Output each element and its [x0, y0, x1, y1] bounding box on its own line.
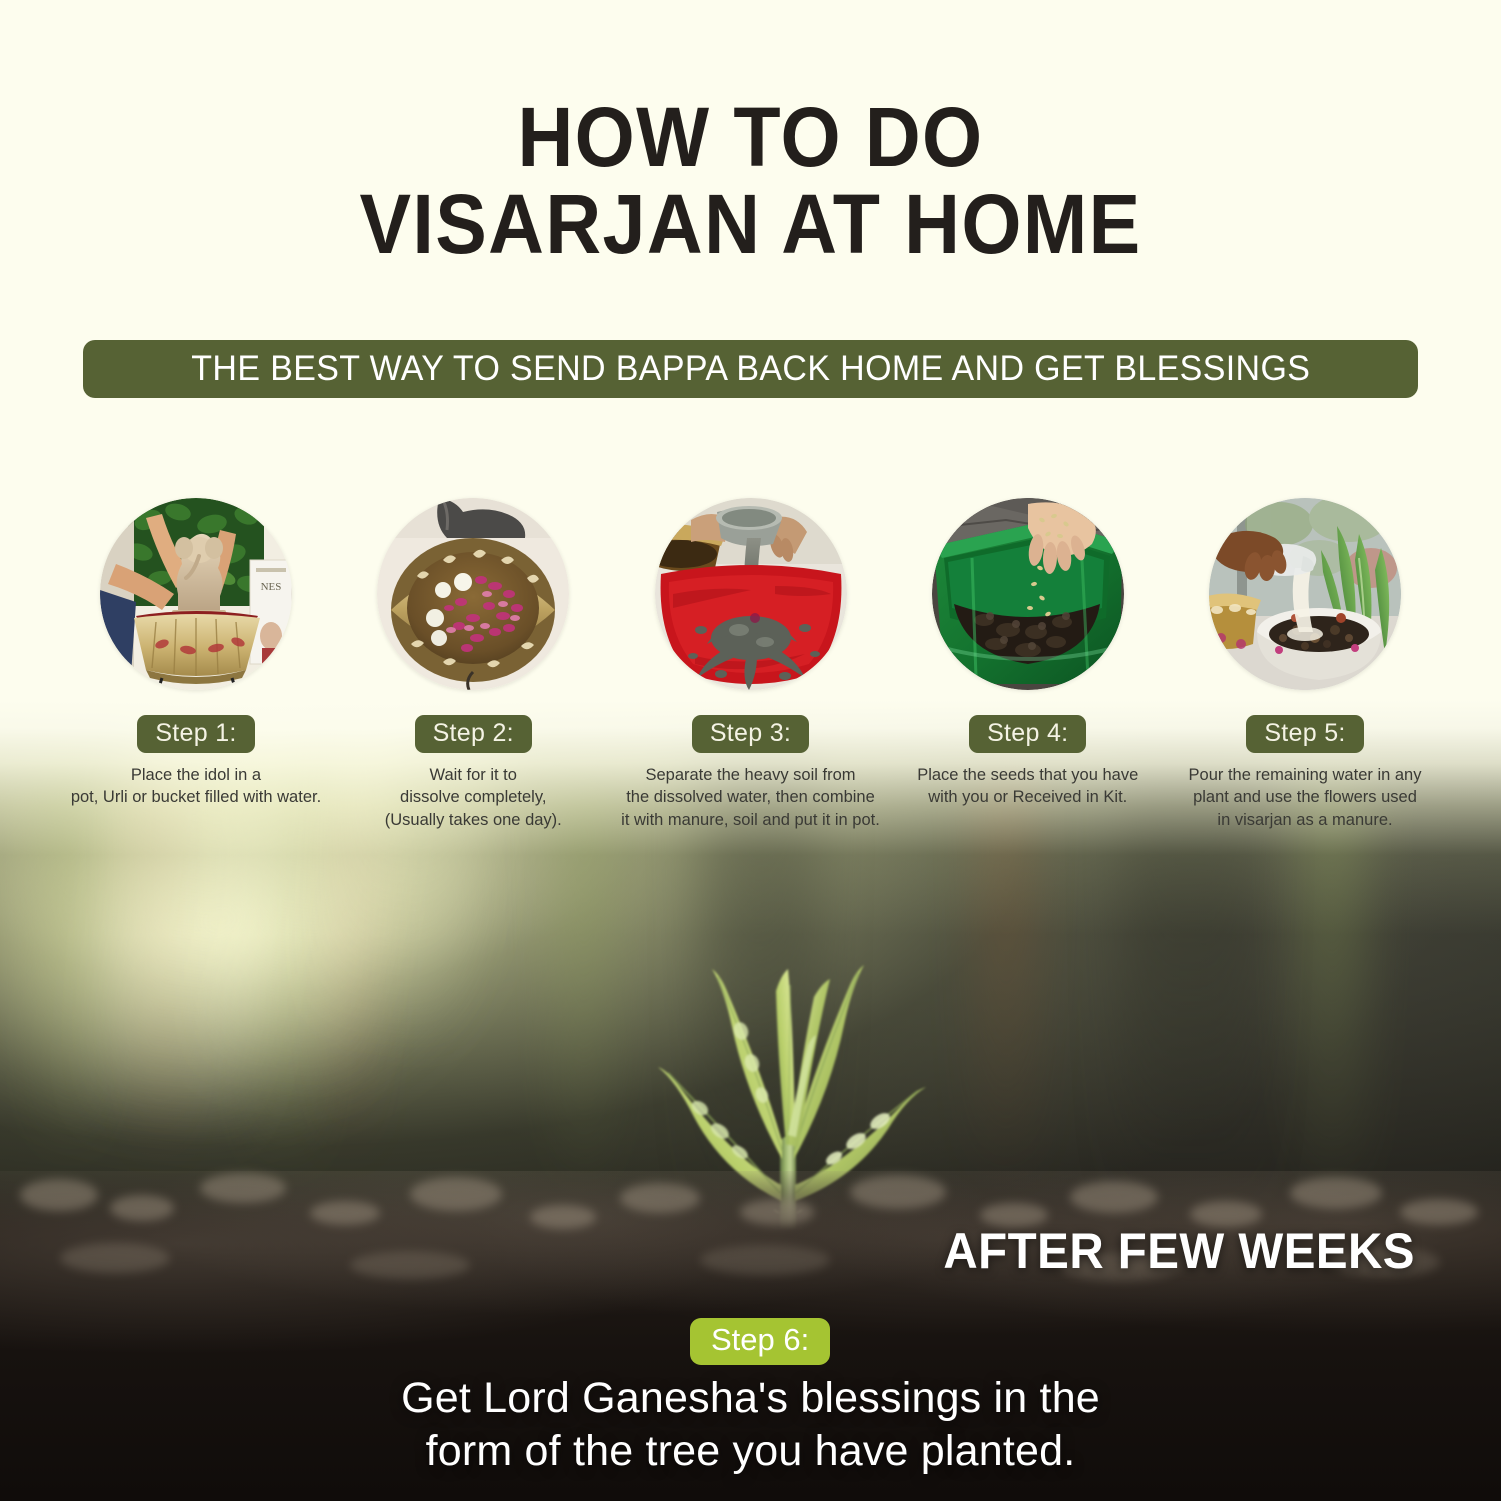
svg-text:NES: NES: [261, 581, 282, 593]
page-title: HOW TO DO VISARJAN AT HOME: [60, 96, 1441, 266]
step-description: Place the idol in a pot, Urli or bucket …: [71, 764, 321, 809]
step-card-3: Step 3: Separate the heavy soil from the…: [615, 498, 887, 831]
idol-dissolving-in-urli-photo: [377, 498, 569, 690]
subtitle-ribbon: THE BEST WAY TO SEND BAPPA BACK HOME AND…: [83, 340, 1418, 398]
infographic-poster: HOW TO DO VISARJAN AT HOME THE BEST WAY …: [0, 0, 1501, 1501]
title-line-1: HOW TO DO: [517, 90, 983, 184]
step-description: Wait for it to dissolve completely, (Usu…: [385, 764, 562, 831]
step-badge: Step 2:: [415, 715, 532, 753]
header: HOW TO DO VISARJAN AT HOME: [0, 96, 1501, 266]
step-6-description: Get Lord Ganesha's blessings in the form…: [0, 1372, 1501, 1479]
subtitle-text: THE BEST WAY TO SEND BAPPA BACK HOME AND…: [191, 349, 1310, 389]
step-card-1: NES: [60, 498, 332, 809]
step-badge: Step 5:: [1246, 715, 1363, 753]
steps-row: NES: [60, 498, 1441, 831]
watering-potted-plant-photo: [1209, 498, 1401, 690]
step-badge: Step 1:: [137, 715, 254, 753]
pouring-clay-slurry-on-red-cloth-photo: [655, 498, 847, 690]
step-description: Separate the heavy soil from the dissolv…: [621, 764, 880, 831]
step-card-5: Step 5: Pour the remaining water in any …: [1169, 498, 1441, 831]
step-badge: Step 4:: [969, 715, 1086, 753]
sowing-seeds-in-green-grow-bag-photo: [932, 498, 1124, 690]
idol-placed-in-urli-photo: NES: [100, 498, 292, 690]
step-card-2: Step 2: Wait for it to dissolve complete…: [337, 498, 609, 831]
step-badge: Step 3:: [692, 715, 809, 753]
after-few-weeks-label: AFTER FEW WEEKS: [943, 1222, 1415, 1280]
title-line-2: VISARJAN AT HOME: [60, 183, 1441, 266]
step-description: Pour the remaining water in any plant an…: [1189, 764, 1422, 831]
step-card-4: Step 4: Place the seeds that you have wi…: [892, 498, 1164, 809]
step-description: Place the seeds that you have with you o…: [917, 764, 1138, 809]
step-6-badge: Step 6:: [690, 1318, 830, 1365]
